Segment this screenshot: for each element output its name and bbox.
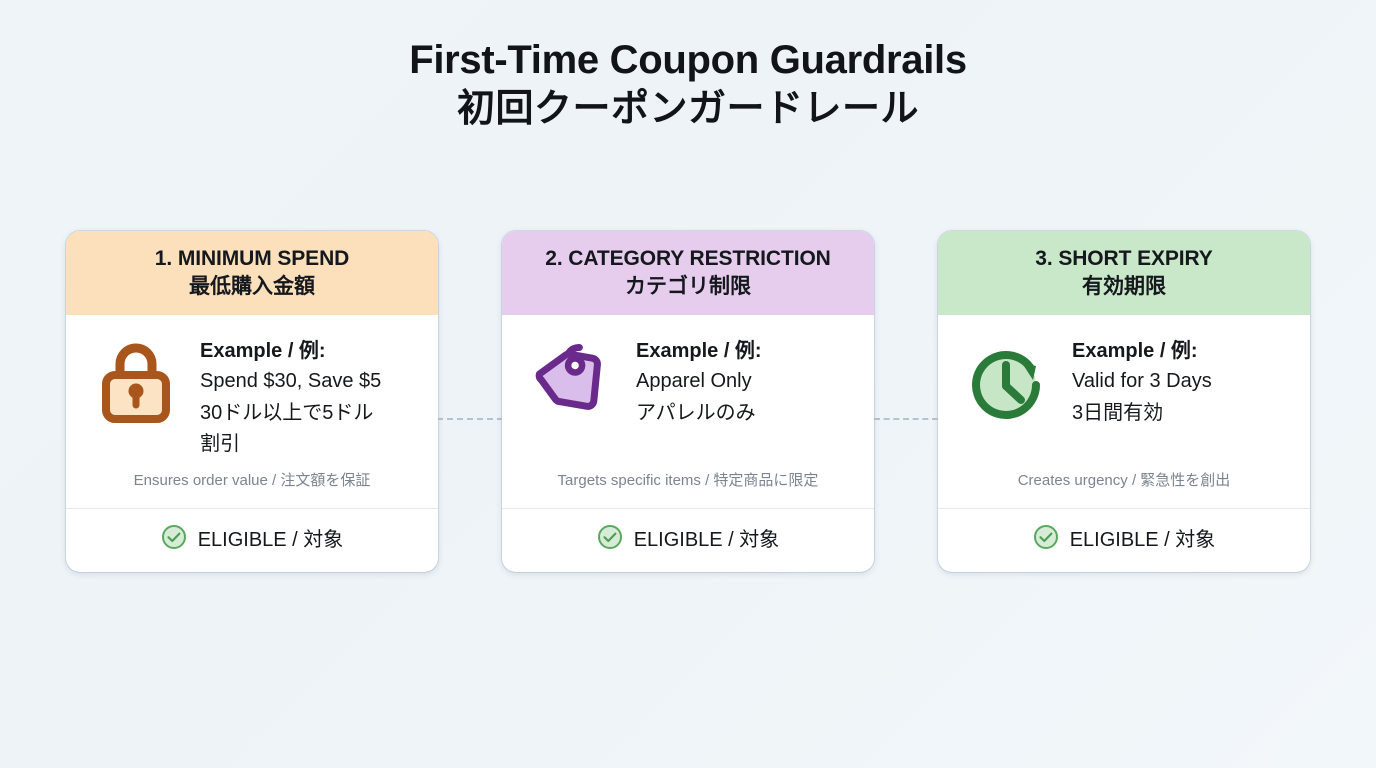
example-line-ja-2: 割引 — [200, 429, 416, 461]
example-line-ja: 3日間有効 — [1072, 398, 1288, 430]
card-status-short-expiry: ELIGIBLE / 対象 — [938, 508, 1310, 572]
page-title: First-Time Coupon Guardrails 初回クーポンガードレー… — [0, 38, 1376, 132]
page-title-ja: 初回クーポンガードレール — [0, 87, 1376, 133]
status-badge-label: ELIGIBLE / 対象 — [634, 530, 780, 550]
check-circle-icon — [1033, 524, 1059, 555]
check-circle-icon — [161, 524, 187, 555]
tag-icon — [524, 335, 620, 427]
card-header-minimum-spend: 1. MINIMUM SPEND 最低購入金額 — [66, 231, 438, 315]
example-line-en: Spend $30, Save $5 — [200, 366, 416, 398]
example-label: Example / 例: — [1072, 337, 1288, 366]
card-minimum-spend[interactable]: 1. MINIMUM SPEND 最低購入金額 Example / 例: Spe… — [66, 231, 438, 572]
card-title-en: 1. MINIMUM SPEND — [76, 247, 428, 272]
card-caption-short-expiry: Creates urgency / 緊急性を創出 — [938, 455, 1310, 508]
example-line-ja: アパレルのみ — [636, 398, 852, 430]
card-title-ja: 最低購入金額 — [76, 274, 428, 300]
card-title-ja: 有効期限 — [948, 274, 1300, 300]
card-status-category-restriction: ELIGIBLE / 対象 — [502, 508, 874, 572]
card-caption-minimum-spend: Ensures order value / 注文額を保証 — [66, 461, 438, 508]
status-badge-label: ELIGIBLE / 対象 — [198, 530, 344, 550]
card-caption-category-restriction: Targets specific items / 特定商品に限定 — [502, 455, 874, 508]
card-short-expiry[interactable]: 3. SHORT EXPIRY 有効期限 Example / 例: Valid … — [938, 231, 1310, 572]
card-example-minimum-spend: Example / 例: Spend $30, Save $5 30ドル以上で5… — [200, 335, 416, 461]
example-line-ja: 30ドル以上で5ドル — [200, 398, 416, 430]
example-line-en: Apparel Only — [636, 366, 852, 398]
lock-icon — [88, 335, 184, 425]
card-row: 1. MINIMUM SPEND 最低購入金額 Example / 例: Spe… — [66, 231, 1310, 572]
status-badge-label: ELIGIBLE / 対象 — [1070, 530, 1216, 550]
card-title-en: 3. SHORT EXPIRY — [948, 247, 1300, 272]
example-label: Example / 例: — [200, 337, 416, 366]
card-header-short-expiry: 3. SHORT EXPIRY 有効期限 — [938, 231, 1310, 315]
page-title-en: First-Time Coupon Guardrails — [0, 38, 1376, 83]
slide-canvas: First-Time Coupon Guardrails 初回クーポンガードレー… — [0, 0, 1376, 768]
check-circle-icon — [597, 524, 623, 555]
card-status-minimum-spend: ELIGIBLE / 対象 — [66, 508, 438, 572]
card-title-ja: カテゴリ制限 — [512, 274, 864, 300]
card-header-category-restriction: 2. CATEGORY RESTRICTION カテゴリ制限 — [502, 231, 874, 315]
card-example-category-restriction: Example / 例: Apparel Only アパレルのみ — [636, 335, 852, 429]
card-example-short-expiry: Example / 例: Valid for 3 Days 3日間有効 — [1072, 335, 1288, 429]
clock-arrow-icon — [960, 335, 1056, 427]
card-body-minimum-spend: Example / 例: Spend $30, Save $5 30ドル以上で5… — [66, 315, 438, 461]
example-label: Example / 例: — [636, 337, 852, 366]
example-line-en: Valid for 3 Days — [1072, 366, 1288, 398]
card-body-short-expiry: Example / 例: Valid for 3 Days 3日間有効 — [938, 315, 1310, 455]
card-title-en: 2. CATEGORY RESTRICTION — [512, 247, 864, 272]
card-category-restriction[interactable]: 2. CATEGORY RESTRICTION カテゴリ制限 Example /… — [502, 231, 874, 572]
card-body-category-restriction: Example / 例: Apparel Only アパレルのみ — [502, 315, 874, 455]
